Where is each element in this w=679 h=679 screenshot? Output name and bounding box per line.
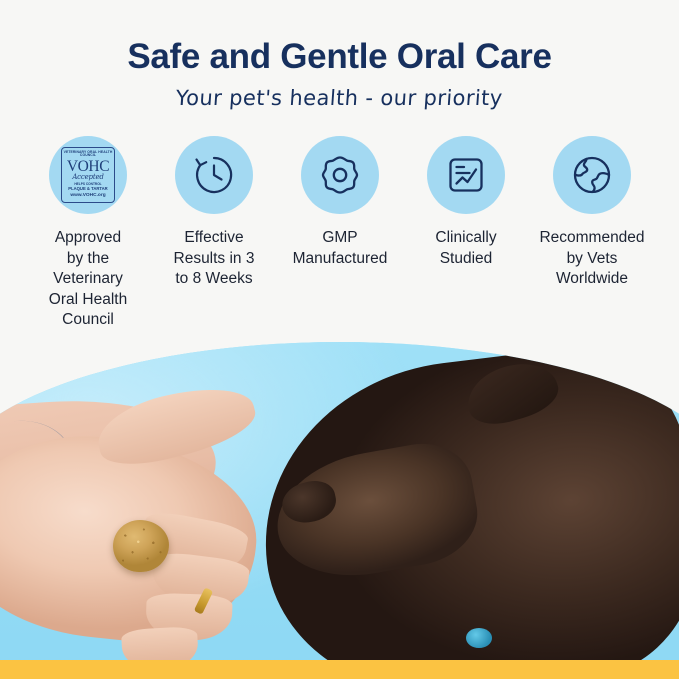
- vohc-seal-icon: VETERINARY ORAL HEALTH COUNCIL VOHC Acce…: [49, 136, 127, 214]
- feature-label-recommended-by-vets: Recommended by Vets Worldwide: [539, 228, 644, 290]
- vohc-seal-badge: VETERINARY ORAL HEALTH COUNCIL VOHC Acce…: [61, 147, 115, 203]
- feature-item-vohc: VETERINARY ORAL HEALTH COUNCIL VOHC Acce…: [26, 136, 150, 331]
- vohc-accepted-text: Accepted: [72, 174, 103, 181]
- product-infographic: Safe and Gentle Oral Care Your pet's hea…: [0, 0, 679, 679]
- feature-item-gmp: GMP Manufactured: [278, 136, 402, 269]
- vohc-subline-2: PLAQUE & TARTAR: [68, 187, 107, 191]
- page-subtitle: Your pet's health - our priority: [0, 77, 679, 110]
- feature-label-clinically-studied: Clinically Studied: [435, 228, 496, 269]
- globe-icon: [553, 136, 631, 214]
- feature-label-effective-results: Effective Results in 3 to 8 Weeks: [174, 228, 255, 290]
- feature-item-effective-results: Effective Results in 3 to 8 Weeks: [152, 136, 276, 290]
- finger-pinky: [121, 626, 199, 660]
- dental-chew-tablet: [113, 520, 169, 572]
- bottom-accent-bar: [0, 660, 679, 679]
- product-photo: [0, 330, 679, 660]
- dog-collar-tag: [466, 628, 492, 648]
- photo-backdrop: [0, 342, 679, 660]
- page-title: Safe and Gentle Oral Care: [0, 0, 679, 77]
- vohc-subline-1: HELPS CONTROL: [74, 183, 101, 187]
- feature-label-vohc: Approved by the Veterinary Oral Health C…: [49, 228, 127, 331]
- clock-history-icon: [175, 136, 253, 214]
- feature-label-gmp: GMP Manufactured: [293, 228, 388, 269]
- feature-list: VETERINARY ORAL HEALTH COUNCIL VOHC Acce…: [26, 136, 654, 331]
- feature-item-recommended-by-vets: Recommended by Vets Worldwide: [530, 136, 654, 290]
- vohc-url-text: www.VOHC.org: [70, 194, 105, 199]
- chart-analytics-icon: [427, 136, 505, 214]
- feature-item-clinically-studied: Clinically Studied: [404, 136, 528, 269]
- gear-icon: [301, 136, 379, 214]
- vohc-top-text: VETERINARY ORAL HEALTH COUNCIL: [63, 151, 113, 159]
- header: Safe and Gentle Oral Care Your pet's hea…: [0, 0, 679, 110]
